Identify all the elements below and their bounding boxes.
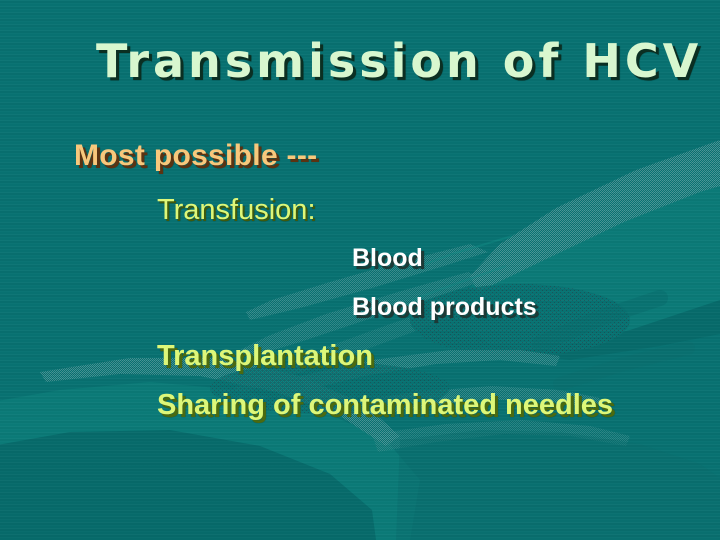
bullet-transfusion: Transfusion: xyxy=(157,196,316,225)
bullet-blood: Blood xyxy=(352,246,423,271)
bullet-blood-products: Blood products xyxy=(352,295,537,320)
slide-canvas: Transmission of HCV Most possible --- Tr… xyxy=(0,0,720,540)
slide-title: Transmission of HCV xyxy=(96,38,702,84)
bullet-sharing-contaminated-needles: Sharing of contaminated needles xyxy=(157,391,613,420)
bullet-transplantation: Transplantation xyxy=(157,342,373,371)
bullet-heading-most-possible: Most possible --- xyxy=(74,141,317,171)
